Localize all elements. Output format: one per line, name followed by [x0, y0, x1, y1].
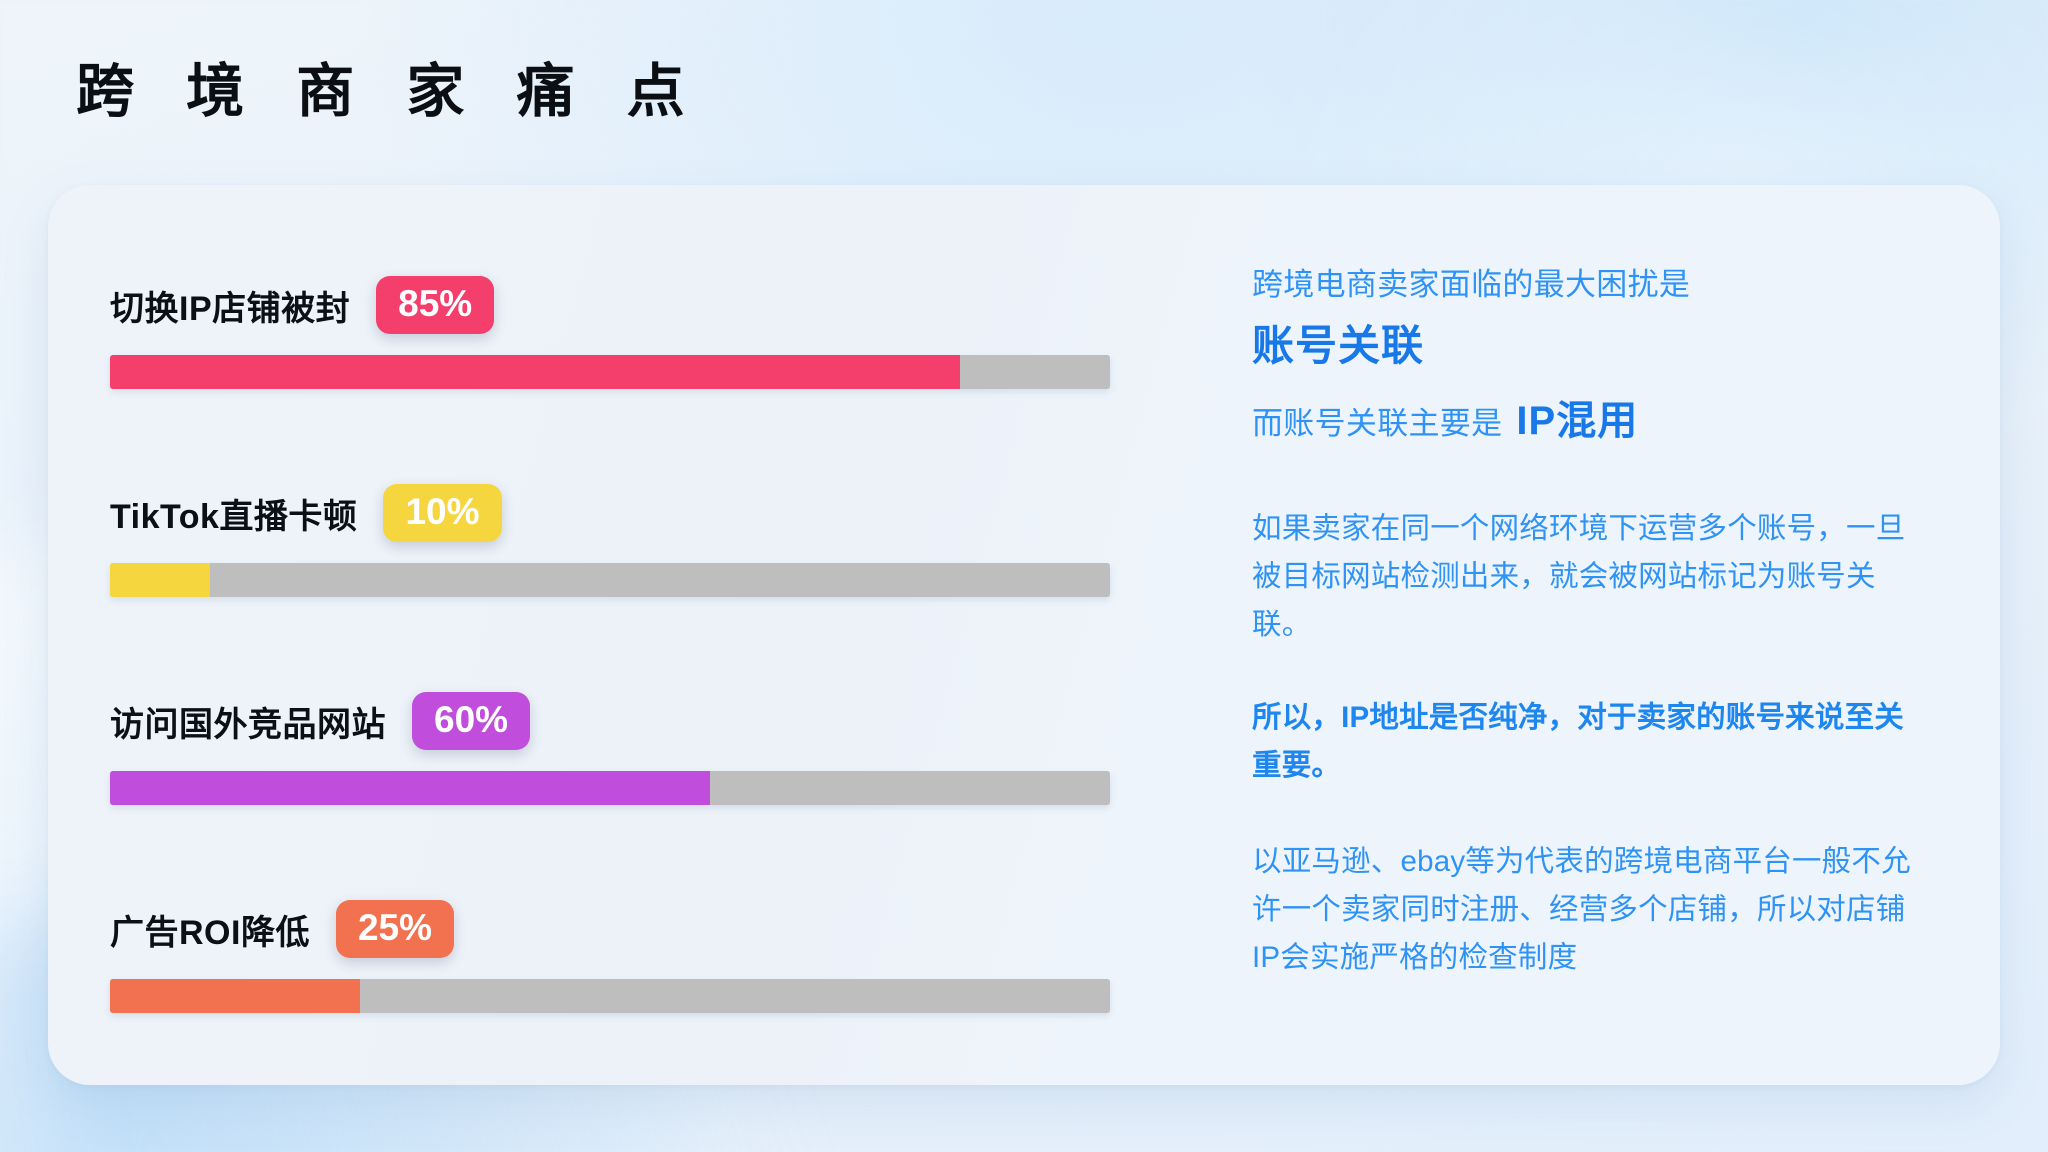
body-paragraph-2: 所以，IP地址是否纯净，对于卖家的账号来说至关重要。	[1252, 694, 1930, 790]
bar-row: 访问国外竞品网站 60%	[110, 659, 1208, 867]
bar-label: TikTok直播卡顿	[110, 489, 357, 538]
bar-track	[110, 979, 1110, 1013]
bar-header: 访问国外竞品网站 60%	[110, 659, 1208, 771]
pain-point-bar-chart: 切换IP店铺被封 85% TikTok直播卡顿 10% 访问国外竞品网站 60%	[48, 185, 1208, 1085]
bar-row: 切换IP店铺被封 85%	[110, 243, 1208, 451]
bar-header: TikTok直播卡顿 10%	[110, 451, 1208, 563]
percent-badge: 10%	[383, 484, 501, 542]
lead-line: 跨境电商卖家面临的最大困扰是	[1252, 261, 1930, 308]
bar-track	[110, 563, 1110, 597]
bar-label: 切换IP店铺被封	[110, 281, 350, 330]
bar-fill	[110, 355, 960, 389]
page-title: 跨 境 商 家 痛 点	[76, 62, 703, 123]
bar-header: 切换IP店铺被封 85%	[110, 243, 1208, 355]
bar-fill	[110, 979, 360, 1013]
percent-badge: 25%	[336, 900, 454, 958]
bar-header: 广告ROI降低 25%	[110, 867, 1208, 979]
bar-label: 访问国外竞品网站	[110, 697, 386, 746]
bar-track	[110, 355, 1110, 389]
body-paragraph-1: 如果卖家在同一个网络环境下运营多个账号，一旦被目标网站检测出来，就会被网站标记为…	[1252, 505, 1930, 648]
percent-badge: 60%	[412, 692, 530, 750]
explanation-pane: 跨境电商卖家面临的最大困扰是 账号关联 而账号关联主要是IP混用 如果卖家在同一…	[1208, 185, 2000, 1085]
lead-secondary-prefix: 而账号关联主要是	[1252, 406, 1502, 441]
body-paragraph-3: 以亚马逊、ebay等为代表的跨境电商平台一般不允许一个卖家同时注册、经营多个店铺…	[1252, 838, 1930, 981]
bar-row: 广告ROI降低 25%	[110, 867, 1208, 1075]
bar-row: TikTok直播卡顿 10%	[110, 451, 1208, 659]
content-card: 切换IP店铺被封 85% TikTok直播卡顿 10% 访问国外竞品网站 60%	[48, 185, 2000, 1085]
bar-fill	[110, 771, 710, 805]
percent-badge: 85%	[376, 276, 494, 334]
bar-track	[110, 771, 1110, 805]
lead-secondary-highlight: IP混用	[1516, 399, 1638, 443]
bar-label: 广告ROI降低	[110, 905, 310, 954]
lead-secondary-line: 而账号关联主要是IP混用	[1252, 389, 1930, 453]
bar-fill	[110, 563, 210, 597]
lead-keyword: 账号关联	[1252, 314, 1930, 377]
